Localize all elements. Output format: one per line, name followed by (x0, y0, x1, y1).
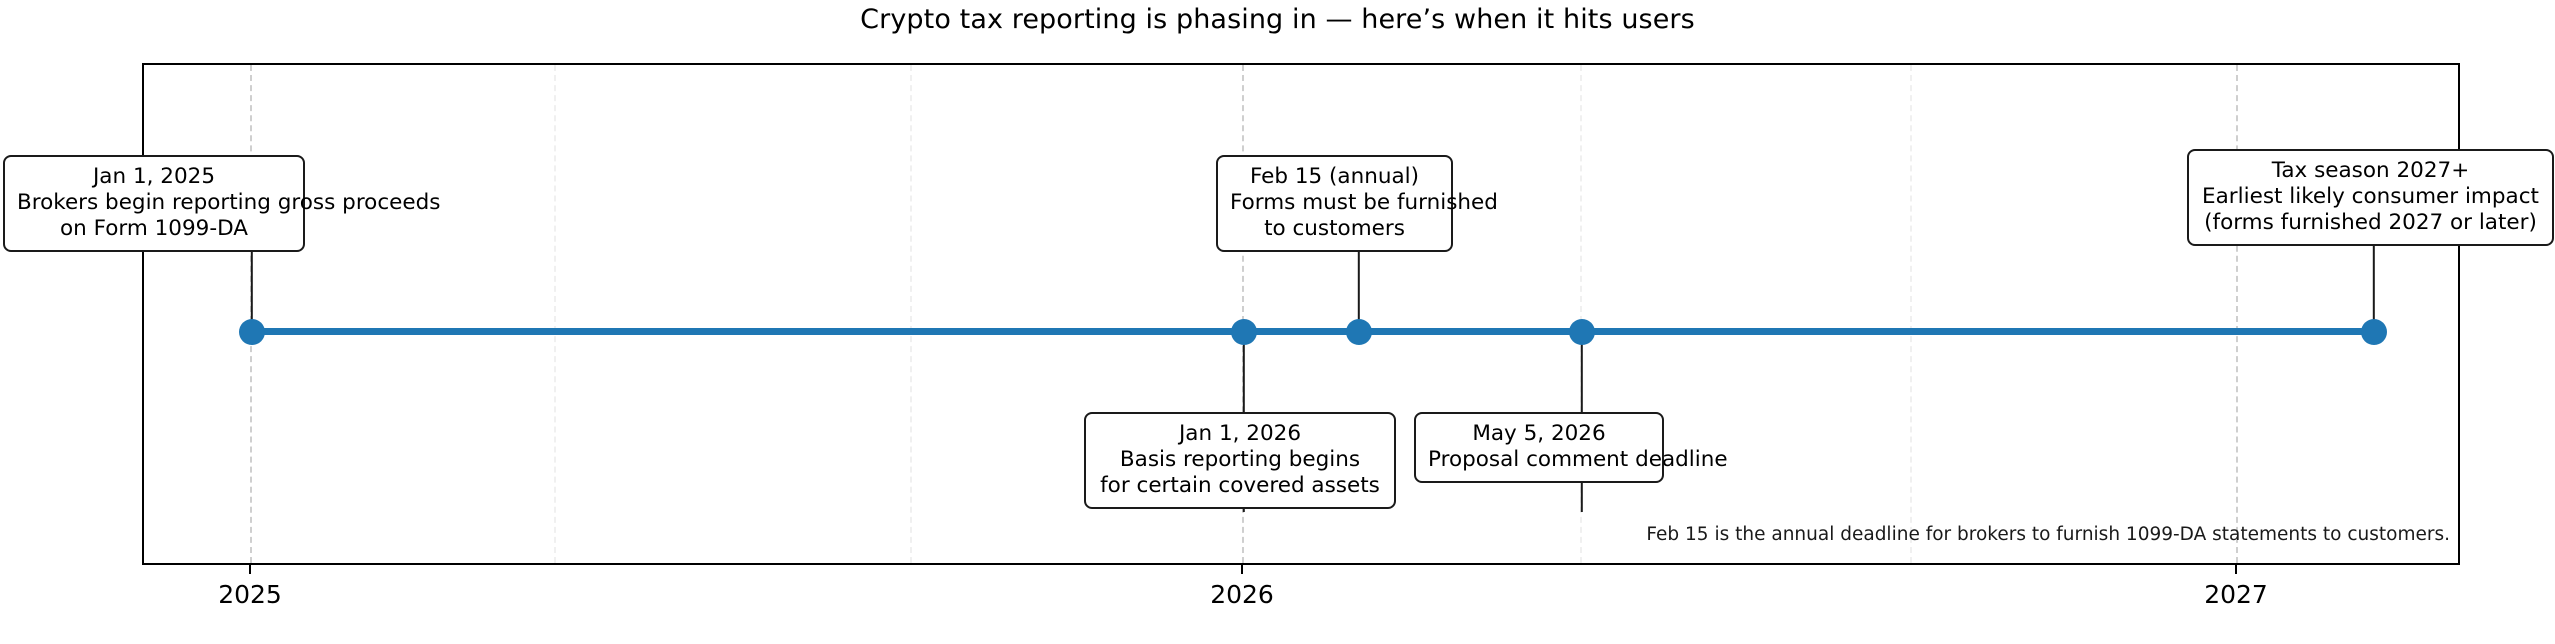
annotation-line: Jan 1, 2026 (1098, 421, 1382, 447)
gridline-2027 (2236, 65, 2238, 563)
timeline-marker-jan-2025[interactable] (239, 319, 265, 345)
annotation-line: Brokers begin reporting gross proceeds (17, 190, 291, 216)
timeline-marker-tax-season-2027[interactable] (2361, 319, 2387, 345)
chart-footnote: Feb 15 is the annual deadline for broker… (1646, 524, 2450, 545)
xtick-mark-2026 (1241, 565, 1243, 574)
annotation-line: (forms furnished 2027 or later) (2201, 210, 2540, 236)
gridline-minor-1 (554, 65, 556, 563)
annotation-line: to customers (1230, 216, 1439, 242)
chart-title: Crypto tax reporting is phasing in — her… (0, 4, 2555, 35)
timeline-chart-figure: Crypto tax reporting is phasing in — her… (0, 0, 2555, 644)
timeline-marker-may-5-2026[interactable] (1569, 319, 1595, 345)
annotation-jan-2026[interactable]: Jan 1, 2026 Basis reporting begins for c… (1084, 412, 1396, 509)
timeline-marker-jan-2026[interactable] (1231, 319, 1257, 345)
xtick-mark-2027 (2235, 565, 2237, 574)
annotation-line: May 5, 2026 (1428, 421, 1650, 447)
xtick-label-2025: 2025 (218, 580, 282, 609)
annotation-feb-15-annual[interactable]: Feb 15 (annual) Forms must be furnished … (1216, 155, 1453, 252)
timeline-marker-feb-15-annual[interactable] (1346, 319, 1372, 345)
gridline-minor-2 (910, 65, 912, 563)
annotation-jan-2025[interactable]: Jan 1, 2025 Brokers begin reporting gros… (3, 155, 305, 252)
annotation-line: Basis reporting begins (1098, 447, 1382, 473)
annotation-line: for certain covered assets (1098, 473, 1382, 499)
annotation-line: Earliest likely consumer impact (2201, 184, 2540, 210)
annotation-line: Jan 1, 2025 (17, 164, 291, 190)
annotation-line: Tax season 2027+ (2201, 158, 2540, 184)
annotation-tax-season-2027[interactable]: Tax season 2027+ Earliest likely consume… (2187, 149, 2554, 246)
annotation-line: Proposal comment deadline (1428, 447, 1650, 473)
xtick-label-2027: 2027 (2204, 580, 2268, 609)
annotation-may-5-2026[interactable]: May 5, 2026 Proposal comment deadline (1414, 412, 1664, 483)
gridline-minor-4 (1910, 65, 1912, 563)
annotation-line: Feb 15 (annual) (1230, 164, 1439, 190)
annotation-line: on Form 1099-DA (17, 216, 291, 242)
xtick-label-2026: 2026 (1210, 580, 1274, 609)
timeline-spine (252, 328, 2374, 335)
xtick-mark-2025 (249, 565, 251, 574)
annotation-line: Forms must be furnished (1230, 190, 1439, 216)
